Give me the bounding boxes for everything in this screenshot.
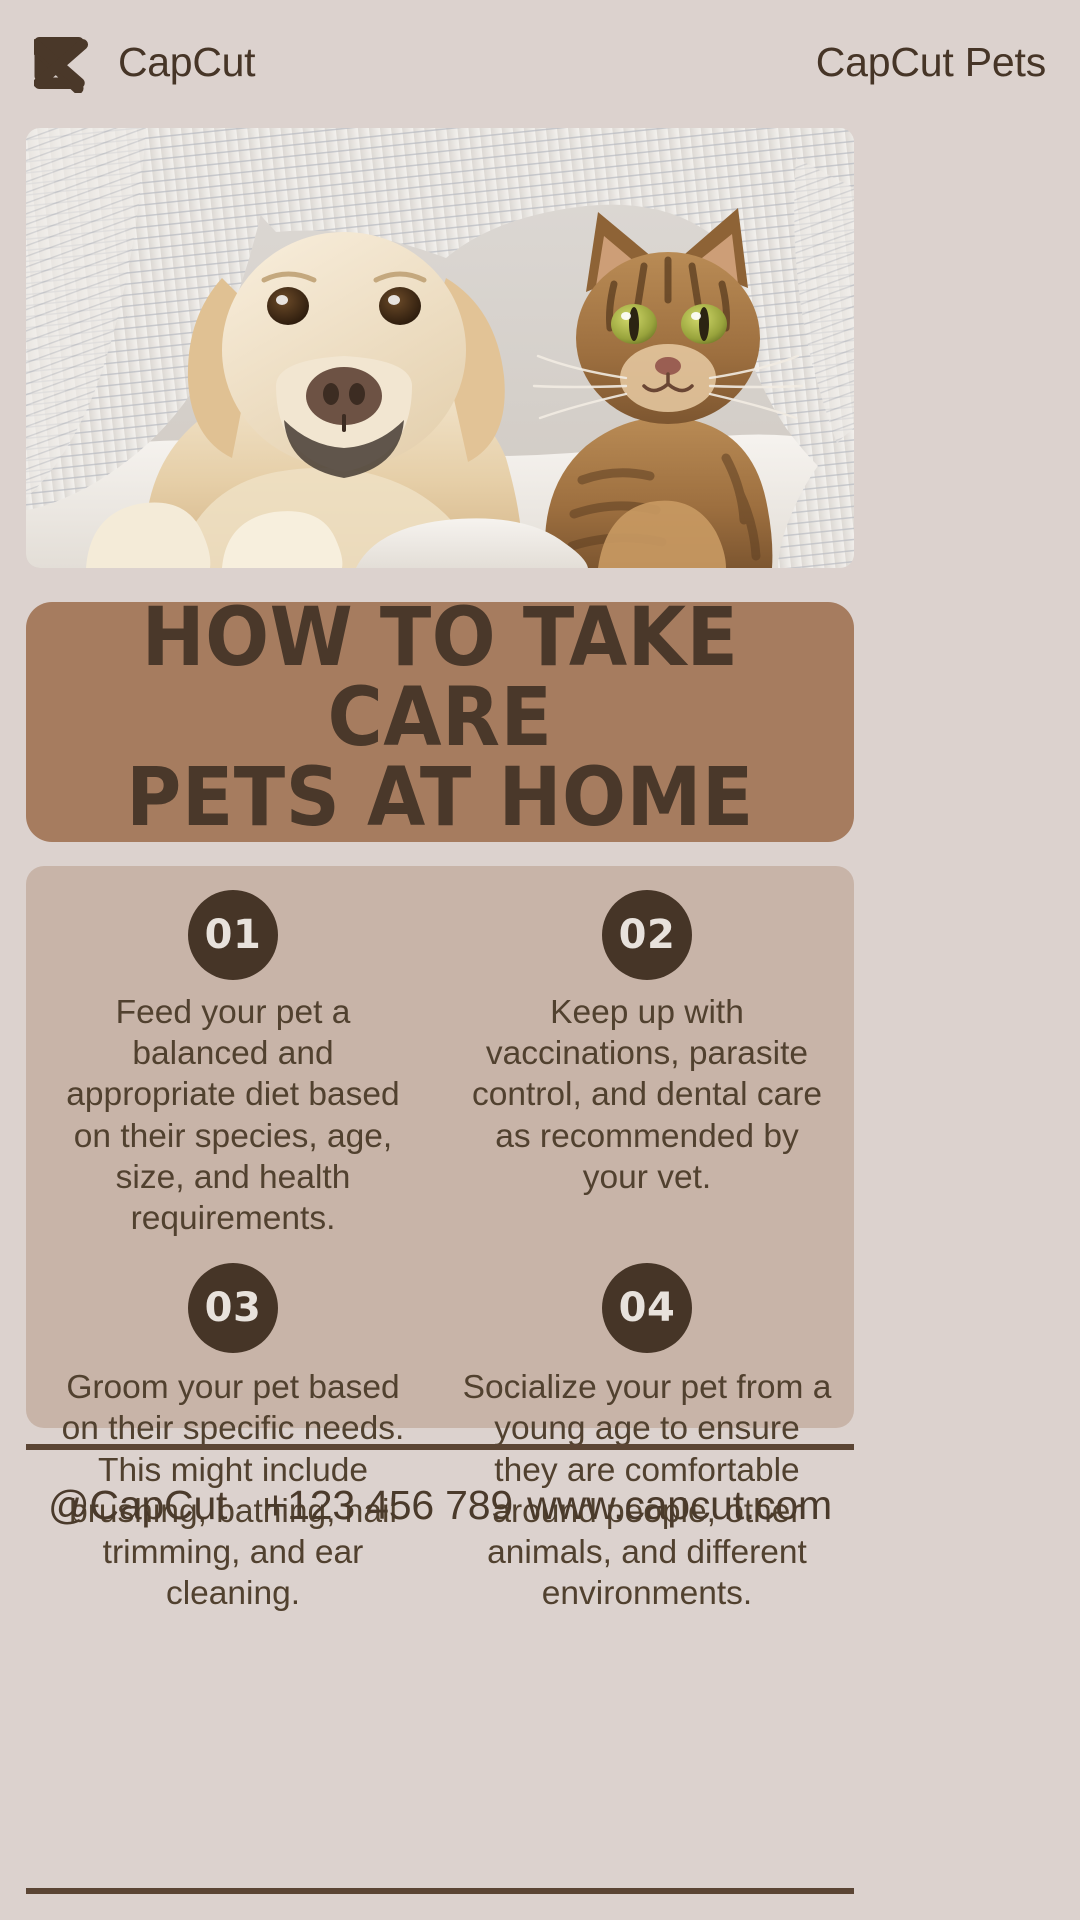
pets-photo-illustration — [26, 128, 854, 568]
social-handle[interactable]: @CapCut — [48, 1482, 227, 1529]
phone-number[interactable]: +123 456 789 — [263, 1482, 513, 1529]
page-title: HOW TO TAKE CARE PETS AT HOME — [74, 598, 807, 839]
page-title-line-2: PETS AT HOME — [74, 758, 807, 838]
footer: @CapCut +123 456 789 www.capcut.com — [26, 1452, 854, 1888]
footer-contact-row: @CapCut +123 456 789 www.capcut.com — [26, 1482, 854, 1529]
tips-panel: 01 Feed your pet a balanced and appropri… — [26, 866, 854, 1428]
header: CapCut CapCut Pets — [0, 0, 1080, 125]
footer-divider-bottom — [26, 1888, 854, 1894]
header-right-label: CapCut Pets — [816, 39, 1046, 86]
footer-divider-top — [26, 1444, 854, 1450]
website-url[interactable]: www.capcut.com — [527, 1482, 832, 1529]
tip-item: 01 Feed your pet a balanced and appropri… — [26, 866, 440, 1239]
tip-number-badge: 03 — [188, 1263, 278, 1353]
hero-photo — [26, 128, 854, 568]
tip-item: 02 Keep up with vaccinations, parasite c… — [440, 866, 854, 1239]
tip-text: Keep up with vaccinations, parasite cont… — [462, 992, 832, 1198]
capcut-logo-icon — [34, 33, 100, 93]
tip-number-badge: 02 — [602, 890, 692, 980]
title-banner: HOW TO TAKE CARE PETS AT HOME — [26, 602, 854, 842]
page-title-line-1: HOW TO TAKE CARE — [74, 598, 807, 758]
brand-name: CapCut — [118, 39, 255, 86]
brand: CapCut — [34, 33, 255, 93]
tip-text: Feed your pet a balanced and appropriate… — [48, 992, 418, 1239]
tip-number-badge: 01 — [188, 890, 278, 980]
infographic-page: CapCut CapCut Pets — [0, 0, 1080, 1920]
tip-number-badge: 04 — [602, 1263, 692, 1353]
